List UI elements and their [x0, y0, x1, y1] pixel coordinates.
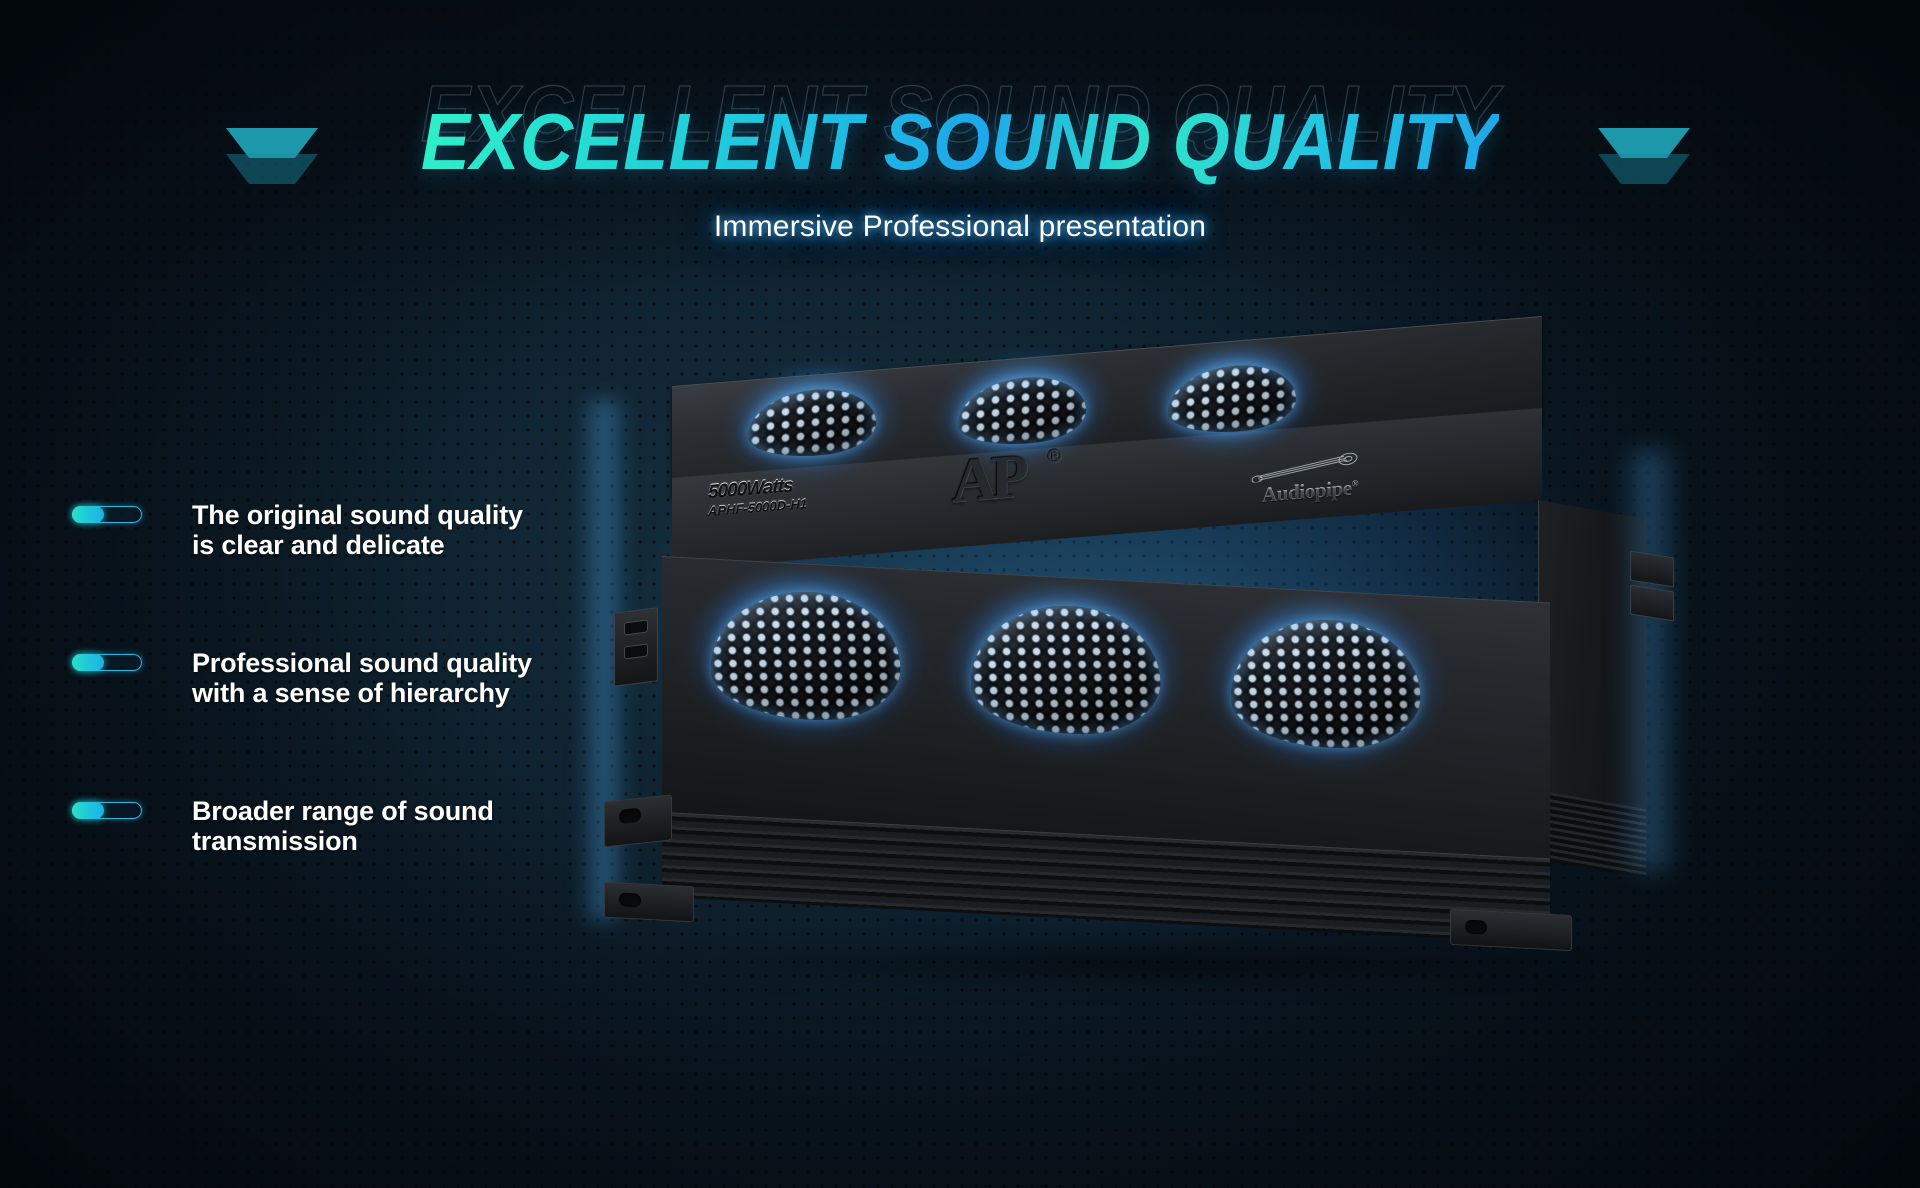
speaker-grille-icon — [967, 606, 1163, 734]
ap-emblem-icon: AP — [952, 445, 1023, 513]
page-title: EXCELLENT SOUND QUALITY EXCELLENT SOUND … — [374, 96, 1546, 188]
promo-banner: EXCELLENT SOUND QUALITY EXCELLENT SOUND … — [0, 0, 1920, 1188]
amplifier-body: 5000Watts APHF-5000D-H1 AP ® — [600, 360, 1920, 1060]
mounting-tab — [604, 794, 672, 847]
speaker-grille-icon — [958, 372, 1086, 449]
page-subtitle: Immersive Professional presentation — [0, 210, 1920, 244]
speaker-grille-icon — [748, 384, 876, 461]
speaker-grille-icon — [1168, 360, 1296, 437]
progress-pill-icon — [72, 654, 142, 671]
power-terminal-block — [614, 607, 658, 686]
progress-pill-icon — [72, 802, 142, 819]
page-title-text: EXCELLENT SOUND QUALITY — [421, 96, 1499, 188]
speaker-grille-icon — [707, 592, 903, 720]
speaker-grille-icon — [1227, 620, 1423, 748]
mounting-tab — [604, 882, 694, 923]
amplifier-spec-label: 5000Watts APHF-5000D-H1 — [708, 474, 807, 520]
product-image: 5000Watts APHF-5000D-H1 AP ® — [600, 360, 1910, 1100]
progress-pill-icon — [72, 506, 142, 523]
brand-logo: Audiopipe® — [1250, 451, 1370, 509]
rim-light-right — [1620, 450, 1680, 870]
product-drop-shadow — [660, 942, 1590, 986]
header: EXCELLENT SOUND QUALITY EXCELLENT SOUND … — [0, 96, 1920, 244]
registered-mark-icon: ® — [1048, 445, 1061, 467]
